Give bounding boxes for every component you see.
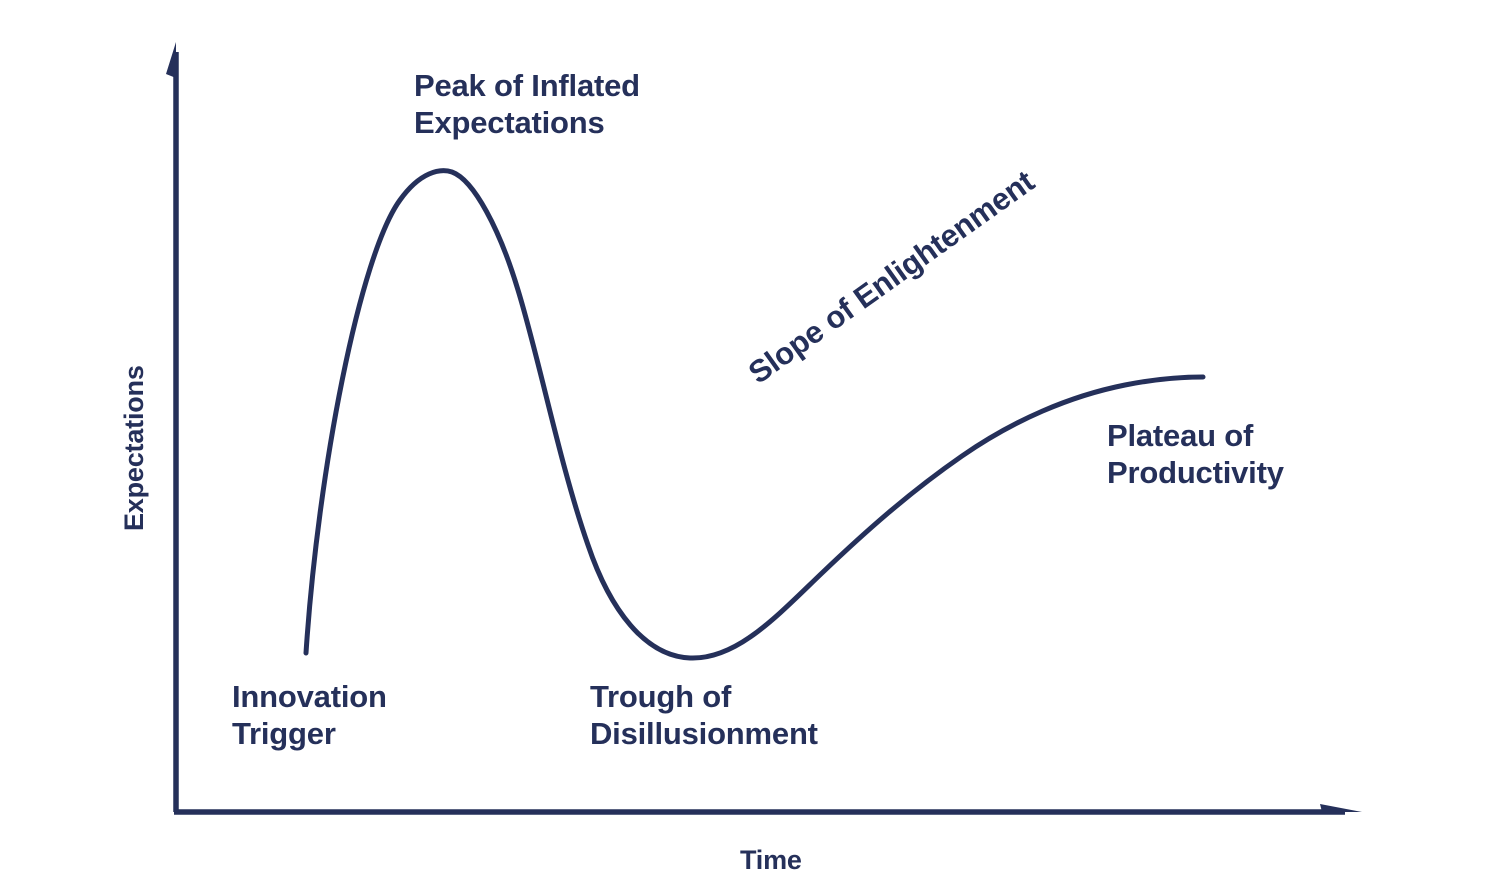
label-peak-of-inflated-expectations: Peak of Inflated Expectations bbox=[414, 68, 640, 141]
label-trough-of-disillusionment: Trough of Disillusionment bbox=[590, 679, 818, 752]
hype-cycle-diagram: Expectations Time Peak of Inflated Expec… bbox=[0, 0, 1498, 894]
arrow-up-icon bbox=[166, 42, 176, 78]
arrow-right-icon bbox=[1320, 804, 1362, 812]
y-axis-title: Expectations bbox=[119, 365, 151, 531]
x-axis-title: Time bbox=[740, 845, 802, 877]
label-plateau-of-productivity: Plateau of Productivity bbox=[1107, 418, 1284, 491]
label-innovation-trigger: Innovation Trigger bbox=[232, 679, 387, 752]
hype-cycle-curve bbox=[306, 171, 1203, 658]
